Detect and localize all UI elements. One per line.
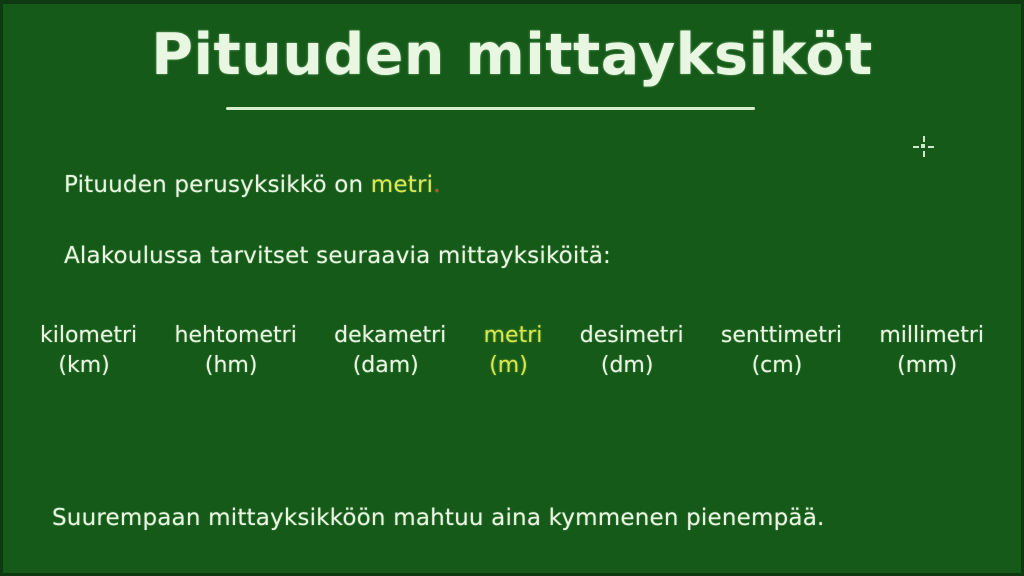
unit-column-metri: metri (m): [484, 322, 543, 381]
unit-abbreviation: (cm): [752, 350, 803, 382]
unit-column-millimetri: millimetri (mm): [879, 322, 984, 381]
unit-abbreviation: (km): [58, 350, 109, 382]
unit-column-hehtometri: hehtometri (hm): [175, 322, 297, 381]
crosshair-tick-up: [923, 136, 925, 142]
page-title: Pituuden mittayksiköt: [151, 22, 873, 89]
unit-name: kilometri: [40, 322, 137, 350]
title-container: Pituuden mittayksiköt: [0, 22, 1024, 89]
crosshair-cursor-icon: [913, 136, 934, 157]
frame-edge-top: [0, 0, 1024, 4]
summary-line: Suurempaan mittayksikköön mahtuu aina ky…: [52, 505, 825, 531]
unit-column-kilometri: kilometri (km): [40, 322, 137, 381]
slide-canvas: Pituuden mittayksiköt Pituuden perusyksi…: [0, 0, 1024, 576]
unit-abbreviation: (mm): [897, 350, 957, 382]
unit-name: hehtometri: [175, 322, 297, 350]
title-underline-rule: [226, 107, 755, 110]
crosshair-tick-right: [928, 146, 934, 148]
unit-abbreviation: (dm): [601, 350, 654, 382]
unit-abbreviation: (dam): [353, 350, 419, 382]
unit-column-dekametri: dekametri (dam): [334, 322, 446, 381]
unit-name: dekametri: [334, 322, 446, 350]
units-row: kilometri (km) hehtometri (hm) dekametri…: [40, 322, 984, 381]
unit-abbreviation: (m): [489, 350, 528, 382]
crosshair-tick-left: [913, 146, 919, 148]
intro-line-highlight-metri: metri: [371, 172, 433, 198]
intro-line-period: .: [433, 172, 441, 198]
crosshair-center-dot: [921, 144, 925, 148]
unit-name: metri: [484, 322, 543, 350]
crosshair-tick-down: [923, 151, 925, 157]
unit-column-senttimetri: senttimetri (cm): [721, 322, 842, 381]
unit-abbreviation: (hm): [205, 350, 258, 382]
intro-line-units-needed: Alakoulussa tarvitset seuraavia mittayks…: [64, 243, 611, 269]
unit-name: desimetri: [580, 322, 684, 350]
unit-name: senttimetri: [721, 322, 842, 350]
intro-line-base-unit: Pituuden perusyksikkö on metri.: [64, 172, 441, 198]
unit-column-desimetri: desimetri (dm): [580, 322, 684, 381]
intro-line-prefix: Pituuden perusyksikkö on: [64, 172, 371, 198]
unit-name: millimetri: [879, 322, 984, 350]
